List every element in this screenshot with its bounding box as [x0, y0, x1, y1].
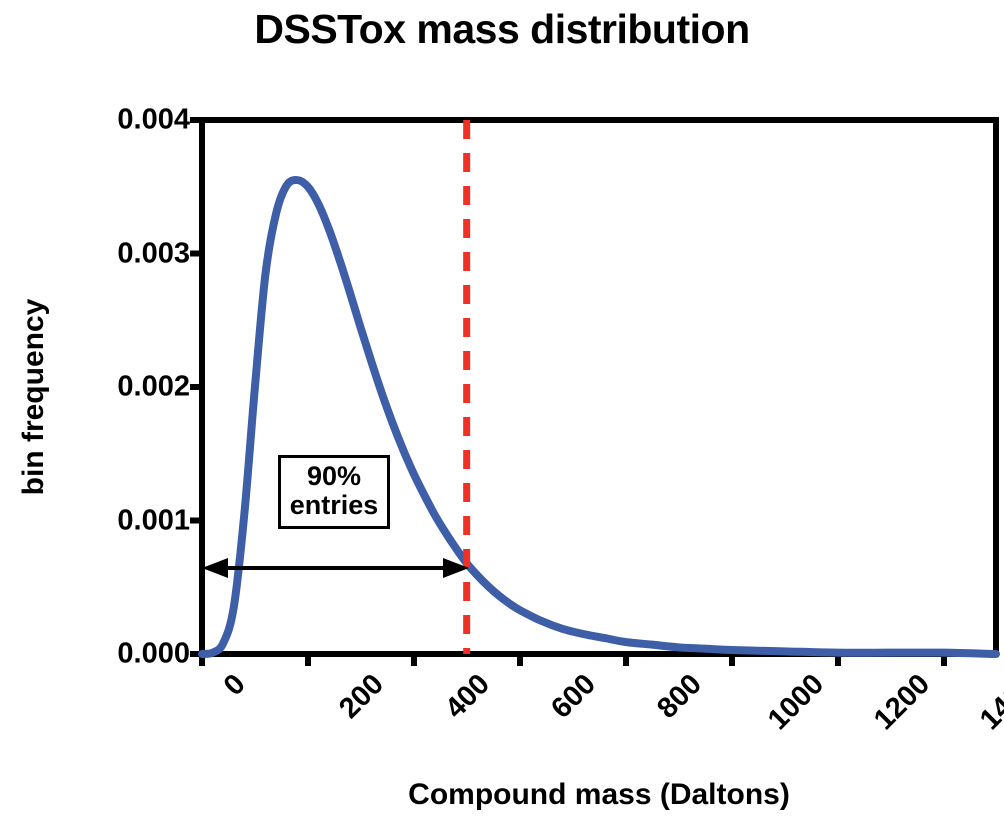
plot-area [0, 0, 1004, 826]
annotation-line-1: 90% [283, 462, 385, 491]
data-series-line [202, 180, 996, 654]
axes-frame [202, 120, 996, 654]
annotation-textbox: 90% entries [278, 455, 390, 529]
annotation-line-2: entries [283, 491, 385, 520]
chart-figure: DSSTox mass distribution bin frequency C… [0, 0, 1004, 826]
